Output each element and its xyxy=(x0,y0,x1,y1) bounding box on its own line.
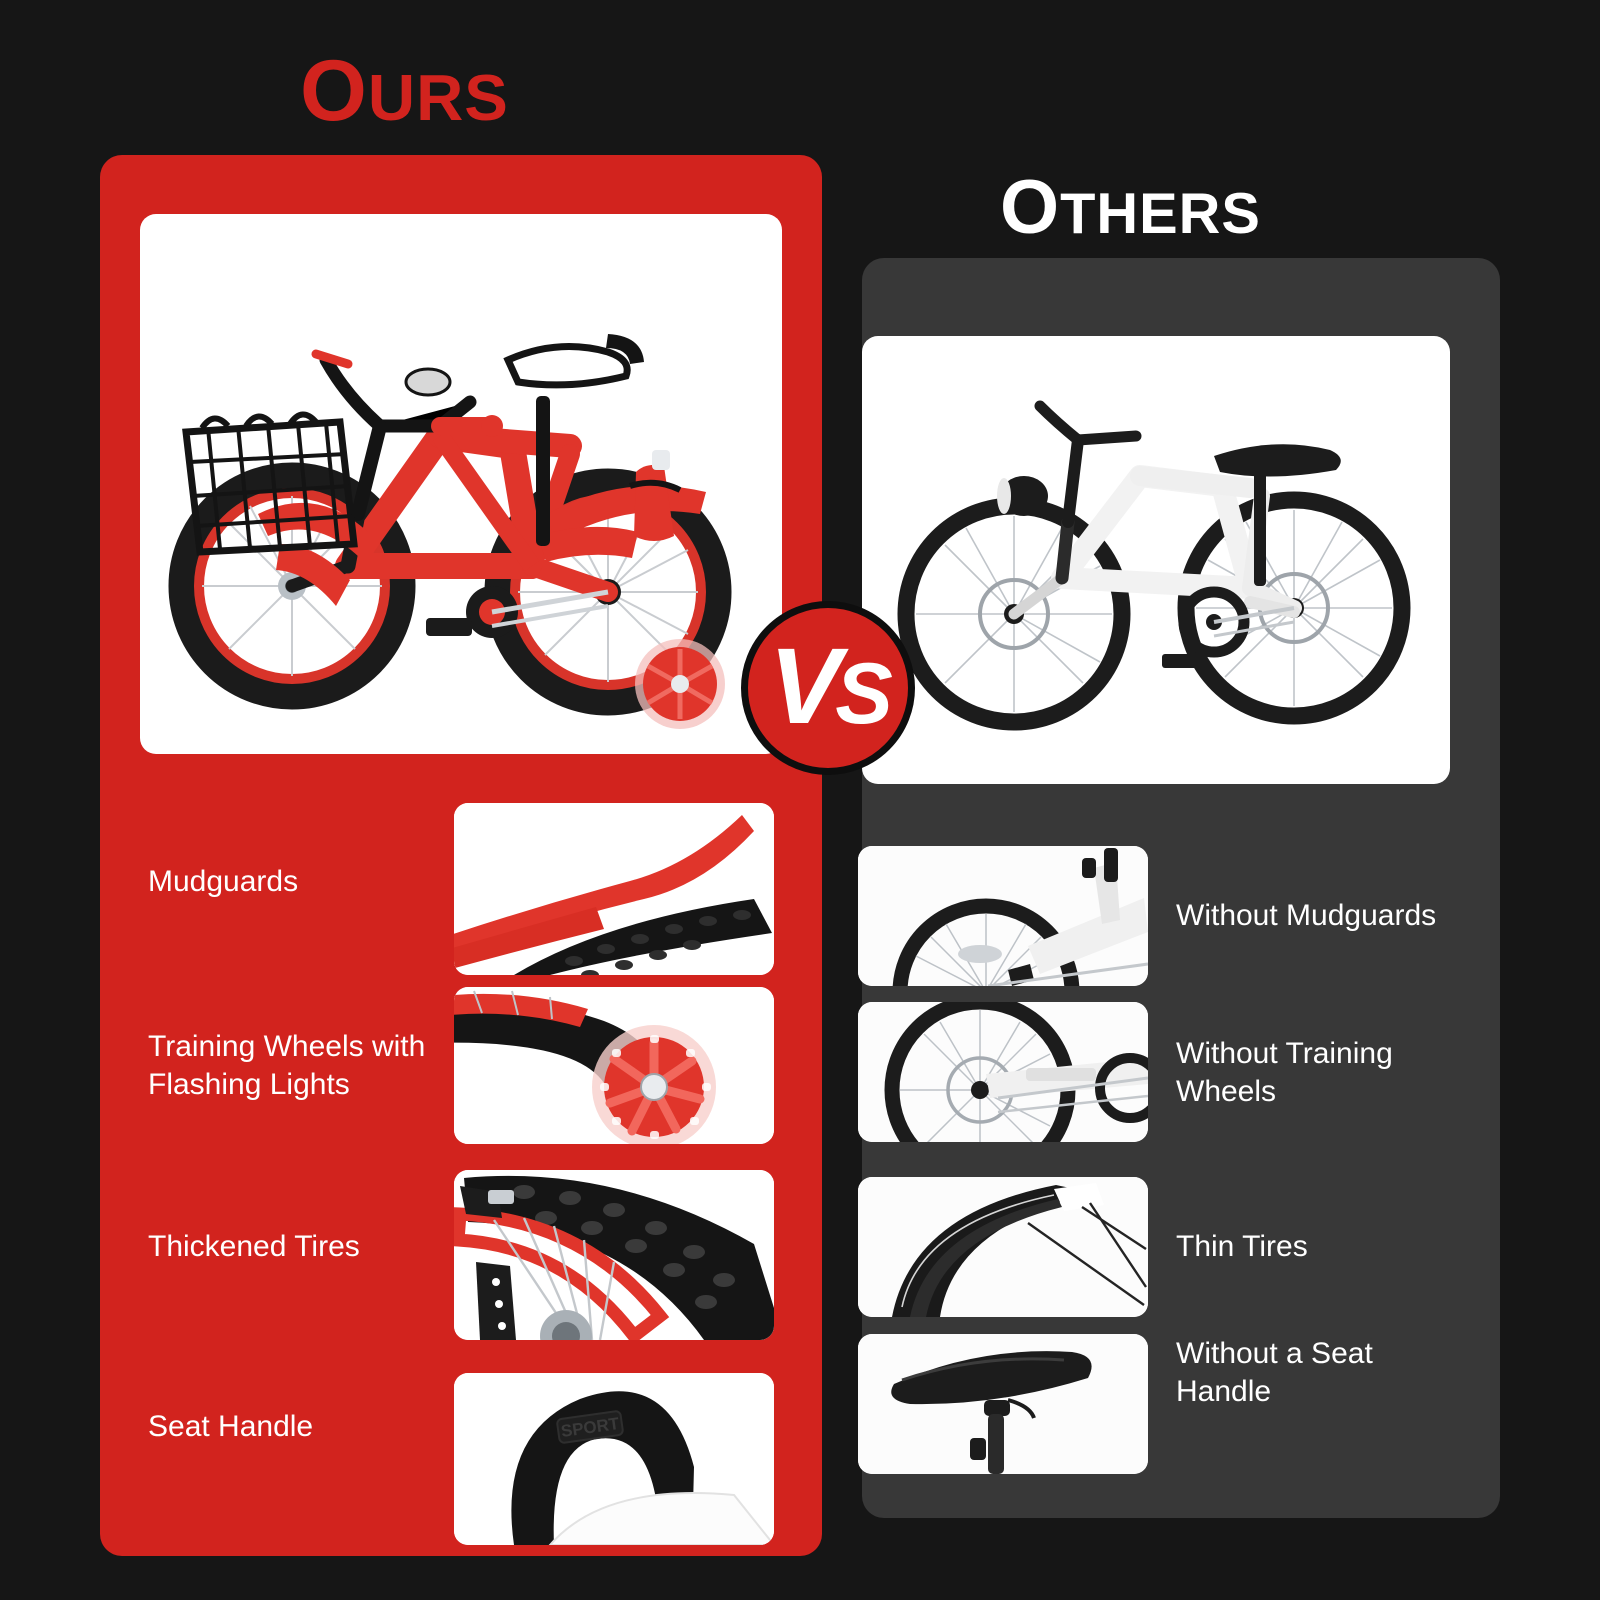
comparison-infographic: OURS OTHERS xyxy=(0,0,1600,1600)
feature-label-seat-handle: Seat Handle xyxy=(148,1408,438,1446)
feature-label-thin-tires: Thin Tires xyxy=(1176,1228,1466,1266)
feature-thumb-no-training-wheels xyxy=(858,1002,1148,1142)
feature-label-without-mudguards: Without Mudguards xyxy=(1176,897,1476,935)
feature-thumb-seat-handle: SPORT xyxy=(454,1373,774,1545)
ours-title-rest: URS xyxy=(368,61,509,134)
page-title-others: OTHERS xyxy=(1000,170,1261,246)
vs-lead: V xyxy=(769,625,835,746)
others-title-rest: THERS xyxy=(1060,182,1261,246)
vs-label: VS xyxy=(769,632,887,740)
ours-hero-image xyxy=(140,214,782,754)
others-title-lead: O xyxy=(1000,165,1060,250)
feature-thumb-no-seat-handle xyxy=(858,1334,1148,1474)
feature-thumb-no-mudguards xyxy=(858,846,1148,986)
vs-badge: VS xyxy=(741,601,915,775)
page-title-ours: OURS xyxy=(300,48,509,134)
feature-label-training-wheels: Training Wheels with Flashing Lights xyxy=(148,1028,448,1105)
vs-rest: S xyxy=(835,646,887,742)
feature-thumb-thickened-tire xyxy=(454,1170,774,1340)
ours-title-lead: O xyxy=(300,43,368,139)
feature-label-without-seat-handle: Without a Seat Handle xyxy=(1176,1335,1456,1412)
others-hero-image xyxy=(862,336,1450,784)
feature-label-thickened-tires: Thickened Tires xyxy=(148,1228,438,1266)
feature-thumb-thin-tires xyxy=(858,1177,1148,1317)
feature-thumb-training-wheel xyxy=(454,987,774,1144)
feature-label-mudguards: Mudguards xyxy=(148,863,438,901)
feature-thumb-mudguards xyxy=(454,803,774,975)
feature-label-without-training-wheels: Without Training Wheels xyxy=(1176,1035,1446,1112)
